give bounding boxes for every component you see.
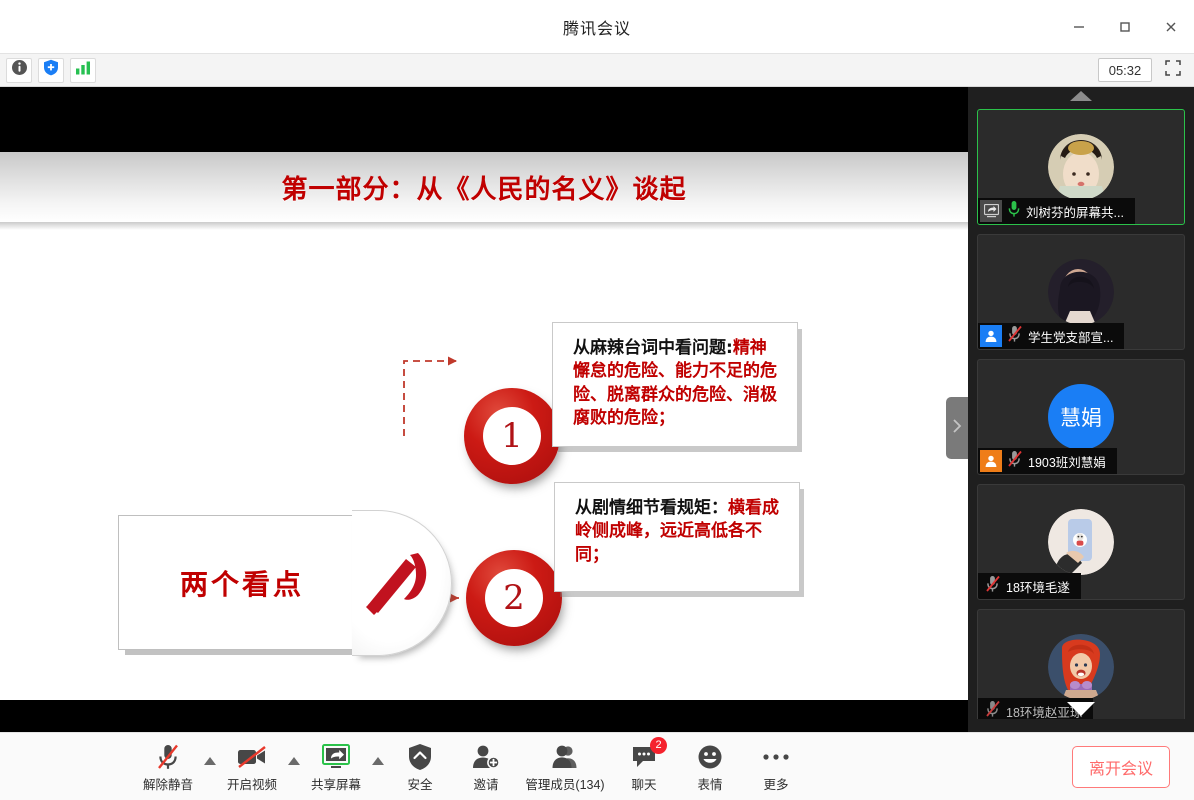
- emoji-button[interactable]: 表情: [677, 739, 743, 795]
- avatar: [1048, 259, 1114, 325]
- step-number: 1: [501, 416, 523, 456]
- meeting-window: 腾讯会议: [0, 0, 1194, 800]
- shared-screen-stage: 第一部分：从《人民的名义》谈起 两个看点: [0, 87, 968, 732]
- audio-options-caret[interactable]: [201, 739, 219, 795]
- avatar: [1048, 634, 1114, 700]
- chevron-right-icon: [952, 418, 962, 439]
- avatar-initials: 慧娟: [1048, 384, 1114, 450]
- meeting-info-button[interactable]: [6, 58, 32, 83]
- maximize-button[interactable]: [1102, 0, 1148, 54]
- avatar: [1048, 134, 1114, 200]
- participant-tile[interactable]: 刘树芬的屏幕共...: [977, 109, 1185, 225]
- share-screen-label: 共享屏幕: [311, 774, 361, 793]
- presentation-slide: 第一部分：从《人民的名义》谈起 两个看点: [0, 152, 968, 700]
- slide-title: 第一部分：从《人民的名义》谈起: [281, 169, 686, 206]
- video-options-caret[interactable]: [285, 739, 303, 795]
- triangle-up-icon: [1069, 89, 1093, 107]
- unmute-label: 解除静音: [143, 774, 193, 793]
- toolbar-buttons: 解除静音 开启视频: [0, 739, 809, 795]
- participant-name: 18环境毛遂: [1006, 577, 1072, 596]
- manage-members-label: 管理成员(134): [525, 774, 604, 793]
- slide-header-band: 第一部分：从《人民的名义》谈起: [0, 152, 968, 222]
- ellipsis-icon: [762, 743, 790, 771]
- host-badge-icon: [980, 325, 1002, 347]
- window-controls: [1056, 0, 1194, 54]
- signal-bars-icon: [75, 60, 92, 80]
- info-buttons: [0, 58, 96, 83]
- meeting-info-bar: 05:32: [0, 54, 1194, 87]
- slide-text-2-lead: 从剧情细节看规矩：: [575, 498, 728, 518]
- chat-unread-badge: 2: [650, 737, 667, 754]
- window-title: 腾讯会议: [563, 15, 631, 39]
- triangle-up-icon: [203, 753, 217, 771]
- smiley-icon: [697, 743, 723, 771]
- participant-tile[interactable]: 慧娟: [977, 359, 1185, 475]
- mic-off-icon: [155, 743, 181, 771]
- participant-tiles: 刘树芬的屏幕共...: [968, 109, 1194, 719]
- more-label: 更多: [763, 774, 788, 793]
- meeting-right-controls: 05:32: [1098, 58, 1194, 83]
- step-number: 2: [503, 578, 525, 618]
- fullscreen-button[interactable]: [1160, 58, 1186, 83]
- invite-button[interactable]: 邀请: [453, 739, 519, 795]
- avatar: [1048, 509, 1114, 575]
- step-marker-1: 1: [464, 388, 560, 484]
- security-button[interactable]: 安全: [387, 739, 453, 795]
- panel-scroll-up-button[interactable]: [968, 87, 1194, 109]
- mic-off-icon: [985, 575, 1001, 598]
- share-screen-button[interactable]: 共享屏幕: [303, 739, 369, 795]
- slide-text-box-2: 从剧情细节看规矩：横看成岭侧成峰，远近高低各不同；: [554, 482, 800, 592]
- more-button[interactable]: 更多: [743, 739, 809, 795]
- participant-panel: 刘树芬的屏幕共...: [968, 87, 1194, 732]
- triangle-down-icon: [1066, 701, 1096, 722]
- participant-name: 刘树芬的屏幕共...: [1026, 202, 1126, 221]
- chat-button[interactable]: 2 聊天: [611, 739, 677, 795]
- slide-text-1-lead: 从麻辣台词中看问题:: [573, 338, 733, 358]
- fullscreen-icon: [1165, 60, 1181, 81]
- info-icon: [11, 59, 28, 81]
- triangle-up-icon: [287, 753, 301, 771]
- members-icon: [551, 743, 579, 771]
- co-host-badge-icon: [980, 450, 1002, 472]
- slide-text-box-1: 从麻辣台词中看问题:精神懈怠的危险、能力不足的危险、脱离群众的危险、消极腐败的危…: [552, 322, 798, 447]
- participant-name-bar: 18环境毛遂: [978, 573, 1081, 599]
- screen-share-badge: [980, 200, 1002, 222]
- invite-label: 邀请: [473, 774, 498, 793]
- panel-scroll-down-button[interactable]: [968, 700, 1194, 722]
- invite-person-icon: [472, 743, 500, 771]
- participant-tile[interactable]: 18环境毛遂: [977, 484, 1185, 600]
- network-status-button[interactable]: [70, 58, 96, 83]
- share-options-caret[interactable]: [369, 739, 387, 795]
- participant-name-bar: 刘树芬的屏幕共...: [978, 198, 1135, 224]
- meeting-toolbar: 解除静音 开启视频: [0, 732, 1194, 800]
- title-bar: 腾讯会议: [0, 0, 1194, 54]
- mic-off-icon: [1007, 450, 1023, 473]
- minimize-button[interactable]: [1056, 0, 1102, 54]
- share-screen-icon: [321, 743, 351, 771]
- triangle-up-icon: [371, 753, 385, 771]
- slide-text-2: 从剧情细节看规矩：横看成岭侧成峰，远近高低各不同；: [575, 497, 783, 567]
- shield-plus-icon: [43, 59, 59, 81]
- unmute-button[interactable]: 解除静音: [135, 739, 201, 795]
- start-video-button[interactable]: 开启视频: [219, 739, 285, 795]
- mic-on-icon: [1007, 200, 1021, 223]
- mic-off-icon: [1007, 325, 1023, 348]
- leave-meeting-button[interactable]: 离开会议: [1072, 746, 1170, 788]
- participant-tile[interactable]: 学生党支部宣...: [977, 234, 1185, 350]
- participant-name-bar: 学生党支部宣...: [978, 323, 1124, 349]
- camera-off-icon: [236, 743, 268, 771]
- close-button[interactable]: [1148, 0, 1194, 54]
- left-headline-text: 两个看点: [180, 563, 304, 603]
- participant-name-bar: 1903班刘慧娟: [978, 448, 1117, 474]
- participant-name: 学生党支部宣...: [1028, 327, 1115, 346]
- participant-name: 1903班刘慧娟: [1028, 452, 1108, 471]
- shield-icon: [407, 743, 433, 771]
- security-label: 安全: [407, 774, 432, 793]
- left-headline-box: 两个看点: [118, 515, 366, 650]
- leave-meeting-label: 离开会议: [1089, 755, 1153, 779]
- chat-label: 聊天: [631, 774, 656, 793]
- slide-text-1: 从麻辣台词中看问题:精神懈怠的危险、能力不足的危险、脱离群众的危险、消极腐败的危…: [573, 337, 781, 431]
- manage-members-button[interactable]: 管理成员(134): [519, 739, 611, 795]
- start-video-label: 开启视频: [227, 774, 277, 793]
- step-marker-2: 2: [466, 550, 562, 646]
- security-shield-button[interactable]: [38, 58, 64, 83]
- party-emblem-disc: [352, 510, 452, 656]
- emoji-label: 表情: [697, 774, 722, 793]
- panel-collapse-handle[interactable]: [946, 397, 968, 459]
- slide-header-shadow: [0, 222, 968, 230]
- meeting-timer: 05:32: [1098, 58, 1152, 82]
